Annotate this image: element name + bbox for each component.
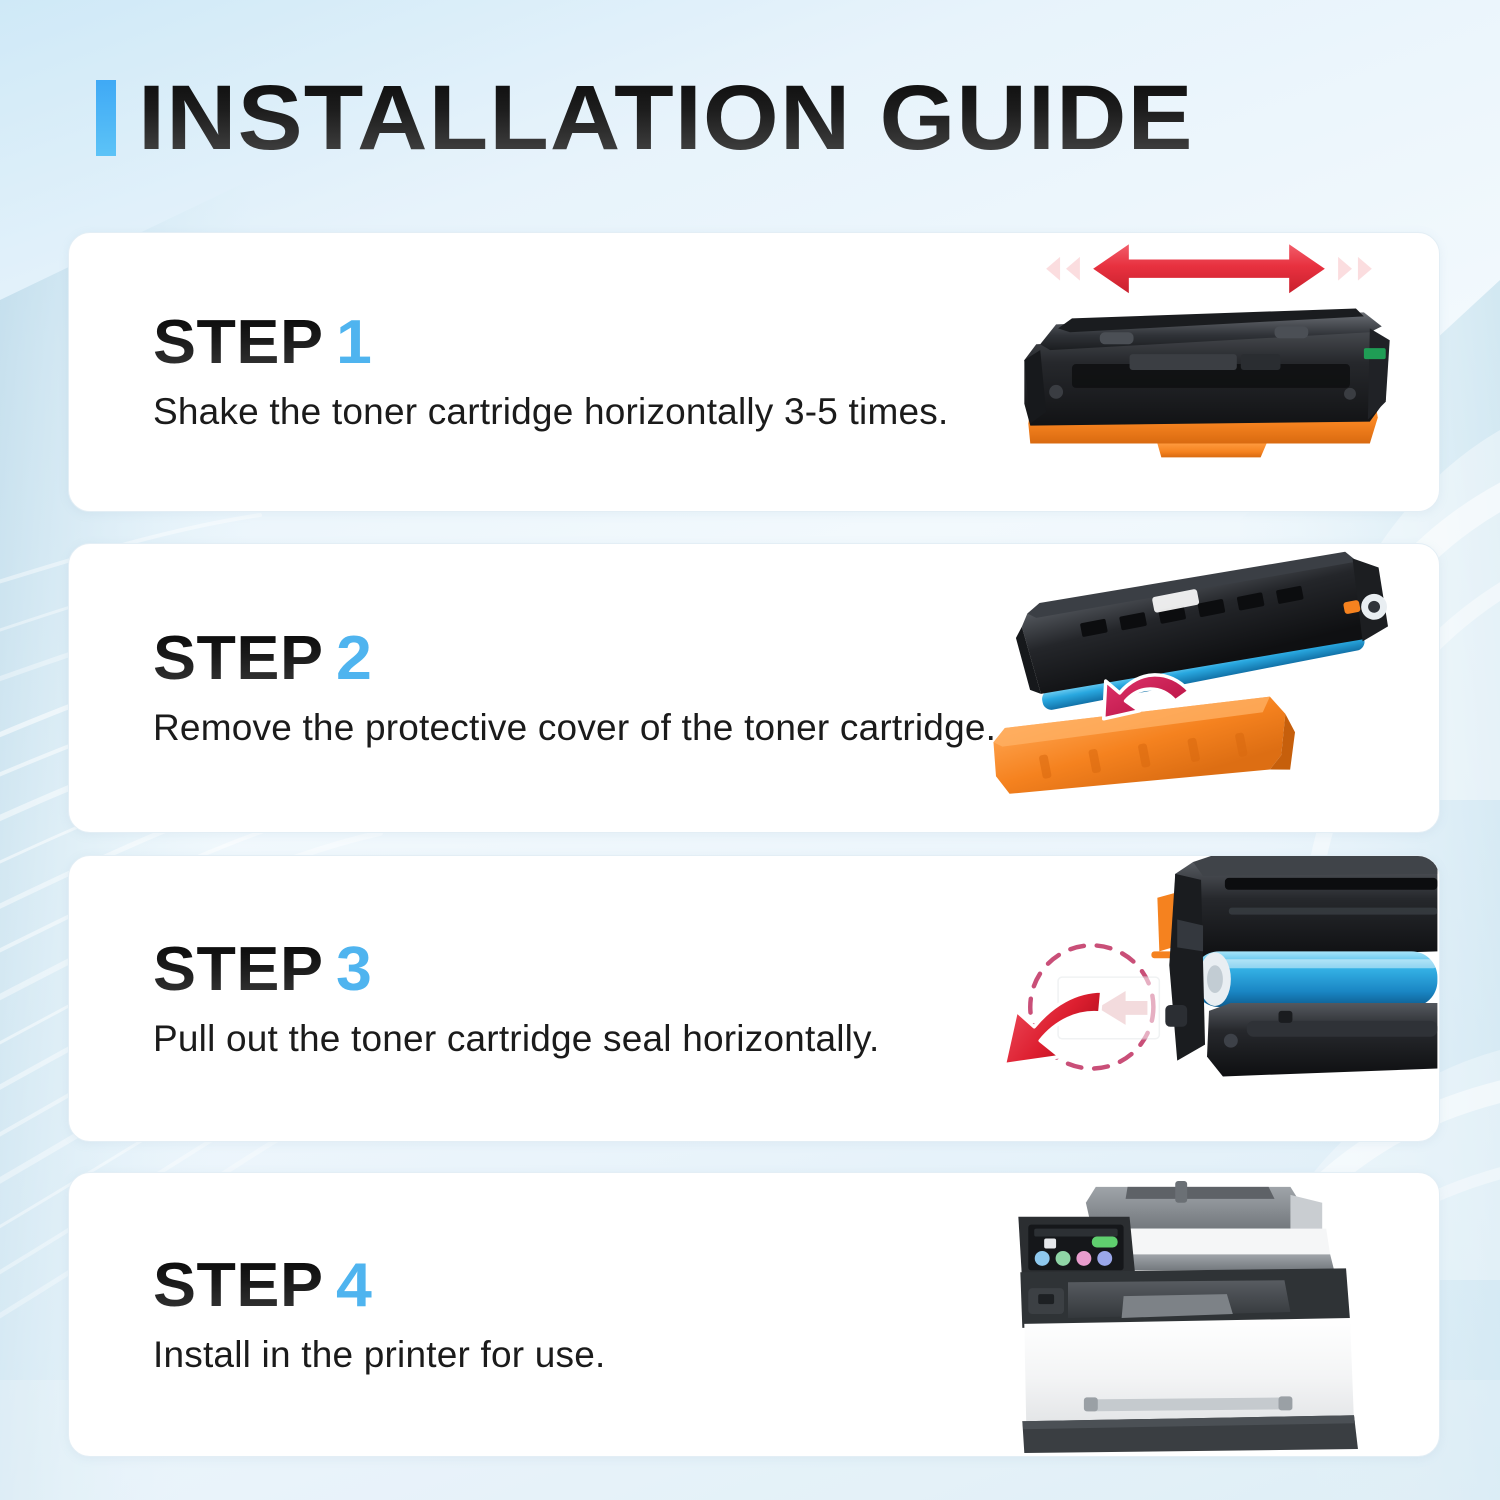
step-1-heading-word: STEP xyxy=(153,308,323,377)
step-2-heading: STEP2 xyxy=(153,626,1030,692)
step-1-heading: STEP1 xyxy=(153,310,980,376)
step-4-text-block: STEP4 Install in the printer for use. xyxy=(153,1253,605,1377)
page-title: INSTALLATION GUIDE xyxy=(138,70,1194,166)
step-3-heading: STEP3 xyxy=(153,937,909,1003)
step-card-4: STEP4 Install in the printer for use. xyxy=(68,1172,1440,1457)
step-card-3: STEP3 Pull out the toner cartridge seal … xyxy=(68,855,1440,1142)
step-1-description: Shake the toner cartridge horizontally 3… xyxy=(153,390,948,434)
page-title-wrap: INSTALLATION GUIDE xyxy=(138,70,1134,166)
title-accent-bar xyxy=(96,80,116,156)
step-card-2: STEP2 Remove the protective cover of the… xyxy=(68,543,1440,833)
step-1-text-block: STEP1 Shake the toner cartridge horizont… xyxy=(153,310,948,434)
step-4-description: Install in the printer for use. xyxy=(153,1333,605,1377)
step-3-text-block: STEP3 Pull out the toner cartridge seal … xyxy=(153,937,880,1061)
step-3-description: Pull out the toner cartridge seal horizo… xyxy=(153,1017,880,1061)
step-4-illustration xyxy=(979,1173,1439,1456)
page-header: INSTALLATION GUIDE xyxy=(0,58,1500,178)
step-3-number: 3 xyxy=(336,935,372,1004)
step-2-number: 2 xyxy=(336,624,372,693)
step-2-text-block: STEP2 Remove the protective cover of the… xyxy=(153,626,996,750)
step-2-heading-word: STEP xyxy=(153,624,323,693)
step-3-heading-word: STEP xyxy=(153,935,323,1004)
step-1-number: 1 xyxy=(336,308,372,377)
step-4-heading: STEP4 xyxy=(153,1253,624,1319)
step-4-number: 4 xyxy=(336,1251,372,1320)
step-2-description: Remove the protective cover of the toner… xyxy=(153,706,996,750)
step-2-illustration xyxy=(979,544,1439,832)
step-4-heading-word: STEP xyxy=(153,1251,323,1320)
step-3-illustration xyxy=(979,856,1439,1141)
step-card-1: STEP1 Shake the toner cartridge horizont… xyxy=(68,232,1440,512)
installation-guide-page: INSTALLATION GUIDE STEP1 Shake the toner… xyxy=(0,0,1500,1500)
step-1-illustration xyxy=(979,233,1439,511)
